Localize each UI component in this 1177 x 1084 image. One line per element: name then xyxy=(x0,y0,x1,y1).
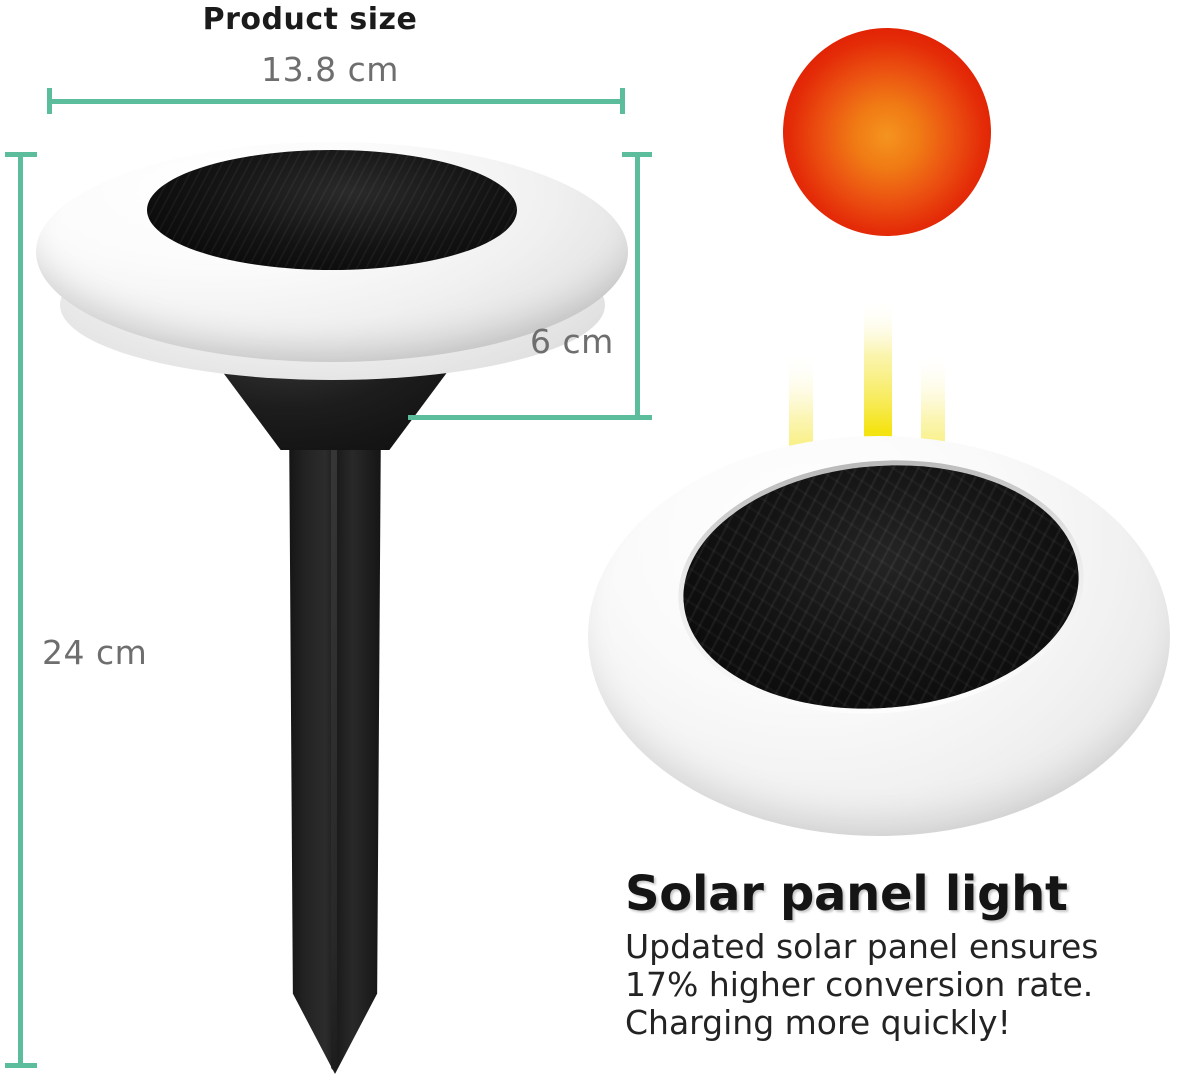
page-title: Product size xyxy=(0,2,620,37)
infographic-canvas: Product size 13.8 cm 6 cm 24 cm xyxy=(0,0,1177,1084)
length-dimension-cap-top xyxy=(5,152,37,157)
width-dimension-line xyxy=(47,99,625,104)
width-dimension-cap-right xyxy=(620,88,625,114)
width-dimension-cap-left xyxy=(47,88,52,114)
feature-body-copy: Updated solar panel ensures 17% higher c… xyxy=(625,928,1099,1042)
length-dimension-line xyxy=(18,152,23,1068)
sun-icon xyxy=(783,28,991,236)
height-dimension-label: 6 cm xyxy=(530,322,614,361)
feature-headline: Solar panel light xyxy=(625,866,1068,922)
width-dimension-label: 13.8 cm xyxy=(0,50,660,89)
height-dimension-cap-top xyxy=(622,152,652,157)
stake-center-ridge-icon xyxy=(331,410,337,1070)
feature-body-line-3: Charging more quickly! xyxy=(625,1004,1099,1042)
feature-body-line-1: Updated solar panel ensures xyxy=(625,928,1099,966)
solar-panel-disc-illustration xyxy=(580,420,1177,860)
length-dimension-label: 24 cm xyxy=(42,633,147,672)
product-solar-panel xyxy=(147,150,517,270)
length-dimension-cap-bottom xyxy=(5,1063,37,1068)
feature-body-line-2: 17% higher conversion rate. xyxy=(625,966,1099,1004)
height-dimension-line xyxy=(635,152,640,420)
product-size-illustration: Product size 13.8 cm 6 cm 24 cm xyxy=(0,0,660,1084)
